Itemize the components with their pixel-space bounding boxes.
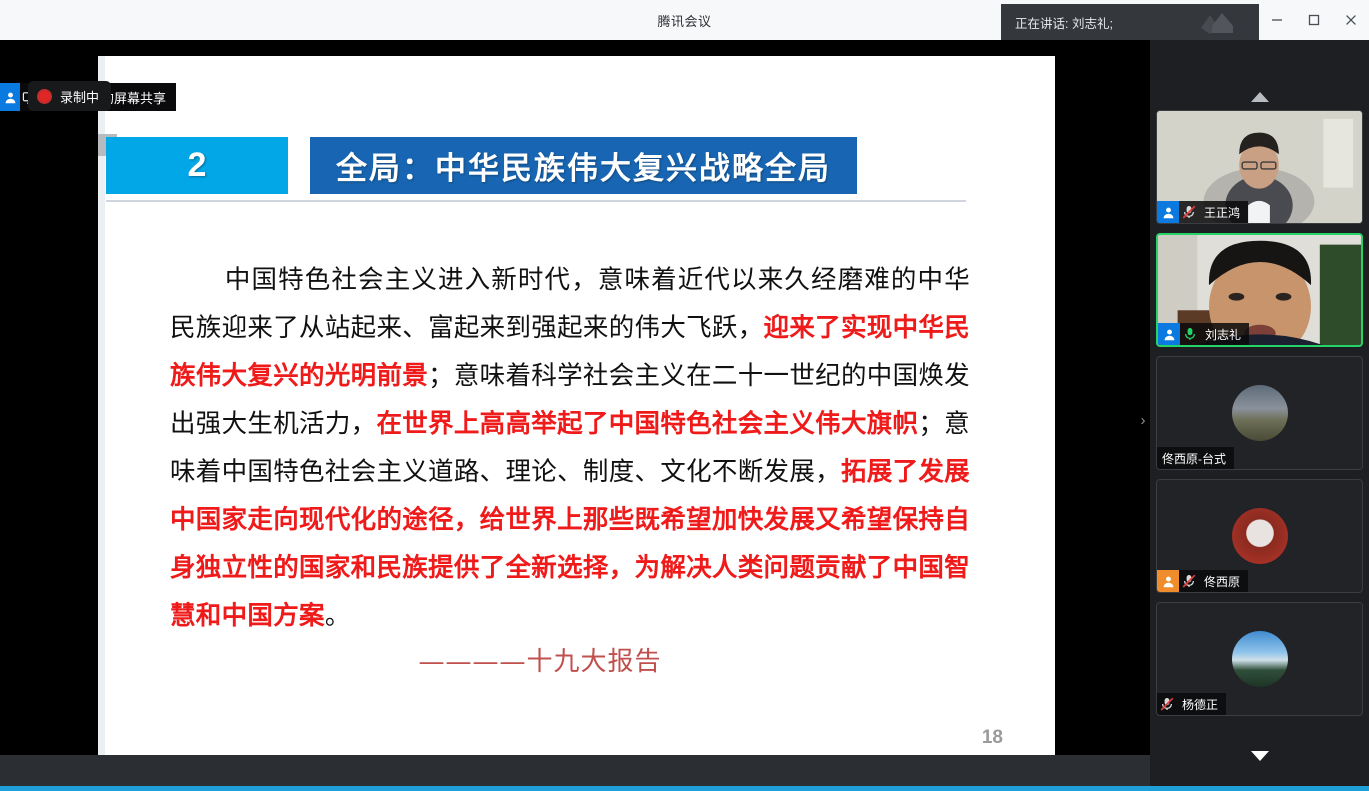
slide-page-number: 18 [982, 727, 1003, 749]
participant-tile[interactable]: 王正鸿 [1156, 110, 1363, 224]
participant-namebar: 王正鸿 [1157, 201, 1248, 223]
slide-header-underline [106, 200, 966, 202]
participant-namebar: 杨德正 [1157, 693, 1226, 715]
participant-name: 刘志礼 [1200, 326, 1241, 343]
avatar [1232, 508, 1288, 564]
avatar [1232, 385, 1288, 441]
slide-title: 全局：中华民族伟大复兴战略全局 [310, 137, 857, 194]
participant-namebar: 佟西原-台式 [1157, 447, 1234, 469]
chevron-right-icon[interactable]: › [1136, 408, 1150, 432]
mic-on-icon [1180, 326, 1200, 342]
participant-namebar: 刘志礼 [1158, 323, 1249, 345]
participant-name: 佟西原-台式 [1157, 450, 1226, 467]
participant-tile[interactable]: 佟西原 [1156, 479, 1363, 593]
participant-tile[interactable]: 杨德正 [1156, 602, 1363, 716]
shared-screen-stage[interactable]: 录制中 2 全局：中华民族伟大复兴战略全局 中国特色社会主义进入新时代，意味着近… [0, 40, 1150, 755]
presentation-slide: 2 全局：中华民族伟大复兴战略全局 中国特色社会主义进入新时代，意味着近代以来久… [98, 56, 1055, 773]
triangle-down-icon[interactable] [1150, 745, 1369, 767]
record-dot-icon [37, 89, 52, 104]
participant-name: 佟西原 [1199, 573, 1240, 590]
slide-text-run: 。 [325, 601, 351, 631]
speaking-status-text: 正在讲话: 刘志礼; [1015, 13, 1113, 32]
section-number-box: 2 [106, 137, 288, 194]
participant-tile[interactable]: 佟西原-台式 [1156, 356, 1363, 470]
maximize-button[interactable] [1299, 5, 1329, 35]
recording-label: 录制中 [60, 87, 99, 106]
person-icon [0, 83, 20, 111]
participant-tiles: 王正鸿 刘志礼佟西原-台式佟西原杨德正 [1150, 110, 1369, 725]
participant-tile[interactable]: 刘志礼 [1156, 233, 1363, 347]
mic-muted-icon [1157, 696, 1177, 712]
slide-text-run: 在世界上高高举起了中国特色社会主义伟大旗帜 [376, 409, 918, 439]
slide-header: 2 全局：中华民族伟大复兴战略全局 [106, 137, 857, 194]
taskbar-strip [0, 786, 1369, 791]
orange-person-icon [1157, 570, 1179, 592]
slide-body-text: 中国特色社会主义进入新时代，意味着近代以来久经磨难的中华民族迎来了从站起来、富起… [170, 256, 970, 640]
participant-namebar: 佟西原 [1157, 570, 1248, 592]
app-window: 腾讯会议 正在讲话: 刘志礼; 录制中 [0, 0, 1369, 791]
mic-muted-icon [1179, 204, 1199, 220]
blue-person-icon [1157, 201, 1179, 223]
recording-indicator: 录制中 [28, 81, 111, 111]
avatar [1232, 631, 1288, 687]
meeting-body: 录制中 2 全局：中华民族伟大复兴战略全局 中国特色社会主义进入新时代，意味着近… [0, 40, 1369, 791]
close-button[interactable] [1336, 5, 1366, 35]
speaking-status-chip: 正在讲话: 刘志礼; [1001, 4, 1259, 40]
triangle-up-icon[interactable] [1150, 86, 1369, 108]
mic-muted-icon [1179, 573, 1199, 589]
participant-name: 杨德正 [1177, 696, 1218, 713]
blue-person-icon [1158, 323, 1180, 345]
minimize-button[interactable] [1262, 5, 1292, 35]
tencent-meeting-logo-icon [1179, 8, 1245, 36]
title-bar: 腾讯会议 正在讲话: 刘志礼; [0, 0, 1369, 40]
participant-name: 王正鸿 [1199, 204, 1240, 221]
slide-attribution: ————十九大报告 [170, 641, 970, 678]
window-controls [1259, 0, 1369, 40]
slide-left-rail [98, 56, 105, 773]
participants-panel: 王正鸿 刘志礼佟西原-台式佟西原杨德正 [1150, 40, 1369, 791]
